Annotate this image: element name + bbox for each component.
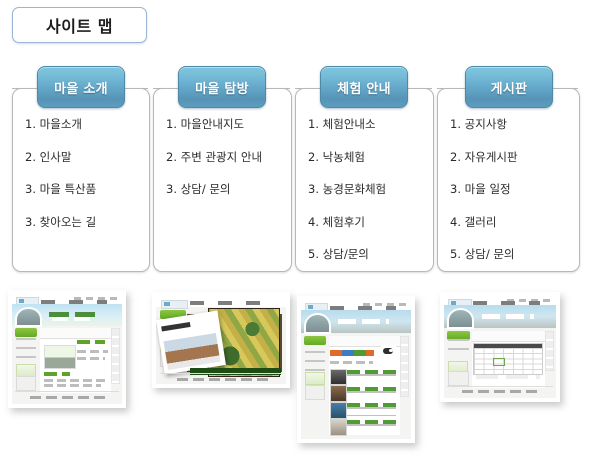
village-schedule-calendar-page-thumbnail[interactable] [440, 292, 560, 402]
sitemap-column-1: 1. 마을소개 2. 인사말 3. 마을 특산품 3. 찾아오는 길 [12, 88, 150, 272]
list-item[interactable]: 3. 농경문화체험 [308, 184, 433, 196]
list-item[interactable]: 3. 찾아오는 길 [25, 217, 149, 229]
list-item-number: 4. [450, 217, 461, 229]
connector-mask-right [578, 86, 600, 91]
sitemap-column-3-list: 1. 체험안내소 2. 낙농체험 3. 농경문화체험 4. 체험후기 5. 상담… [296, 89, 433, 261]
list-item-number: 3. [166, 184, 177, 196]
list-item-number: 2. [308, 152, 319, 164]
list-item[interactable]: 5. 상담/ 문의 [450, 249, 579, 261]
village-home-page-thumbnail[interactable] [8, 290, 126, 408]
sitemap-tab-label: 게시판 [491, 78, 528, 97]
list-item-number: 4. [308, 217, 319, 229]
list-item-label: 상담/ 문의 [465, 247, 515, 261]
thumbnail-screenshot [156, 296, 286, 384]
sitemap-tab-label: 체험 안내 [337, 78, 391, 97]
list-item-label: 주변 관광지 안내 [181, 150, 262, 164]
sitemap-tab-label: 마을 소개 [54, 78, 108, 97]
thumbnail-screenshot [301, 300, 411, 439]
thumbnail-screenshot [12, 294, 122, 404]
list-item-number: 2. [166, 152, 177, 164]
list-item-label: 마을소개 [40, 117, 82, 131]
list-item[interactable]: 3. 상담/ 문의 [166, 184, 291, 196]
sitemap-tab-experience-guide[interactable]: 체험 안내 [320, 66, 408, 108]
list-item-label: 찾아오는 길 [40, 215, 97, 229]
list-item[interactable]: 1. 마을안내지도 [166, 119, 291, 131]
list-item[interactable]: 2. 자유게시판 [450, 152, 579, 164]
list-item[interactable]: 1. 체험안내소 [308, 119, 433, 131]
list-item-number: 1. [450, 119, 461, 131]
list-item-label: 인사말 [40, 150, 72, 164]
village-map-page-thumbnail[interactable] [152, 292, 290, 388]
list-item[interactable]: 3. 마을 일정 [450, 184, 579, 196]
list-item-number: 5. [450, 249, 461, 261]
list-item-number: 3. [308, 184, 319, 196]
list-item-number: 5. [308, 249, 319, 261]
list-item-label: 농경문화체험 [323, 182, 386, 196]
page-title-box: 사이트 맵 [12, 7, 147, 43]
list-item[interactable]: 3. 마을 특산품 [25, 184, 149, 196]
list-item-number: 3. [450, 184, 461, 196]
list-item[interactable]: 4. 갤러리 [450, 217, 579, 229]
list-item[interactable]: 2. 주변 관광지 안내 [166, 152, 291, 164]
sitemap-column-2: 1. 마을안내지도 2. 주변 관광지 안내 3. 상담/ 문의 [153, 88, 292, 272]
list-item-number: 1. [25, 119, 36, 131]
page-title: 사이트 맵 [46, 13, 113, 37]
list-item-label: 상담/ 문의 [181, 182, 231, 196]
list-item-label: 자유게시판 [465, 150, 518, 164]
thumbnail-screenshot [444, 296, 556, 398]
sitemap-tab-bulletin-board[interactable]: 게시판 [465, 66, 553, 108]
sitemap-tab-label: 마을 탐방 [195, 78, 249, 97]
list-item[interactable]: 4. 체험후기 [308, 217, 433, 229]
list-item-label: 체험후기 [323, 215, 365, 229]
list-item[interactable]: 5. 상담/문의 [308, 249, 433, 261]
sitemap-tab-village-tour[interactable]: 마을 탐방 [178, 66, 266, 108]
connector-mask-left [0, 86, 12, 91]
list-item-label: 마을 특산품 [40, 182, 97, 196]
list-item-number: 3. [25, 217, 36, 229]
list-item[interactable]: 2. 낙농체험 [308, 152, 433, 164]
list-item[interactable]: 1. 마을소개 [25, 119, 149, 131]
sitemap-column-4-list: 1. 공지사항 2. 자유게시판 3. 마을 일정 4. 갤러리 5. 상담/ … [438, 89, 579, 261]
sitemap-tab-village-intro[interactable]: 마을 소개 [37, 66, 125, 108]
experience-guide-page-thumbnail[interactable] [297, 296, 415, 443]
sitemap-column-1-list: 1. 마을소개 2. 인사말 3. 마을 특산품 3. 찾아오는 길 [13, 89, 149, 228]
list-item-label: 마을안내지도 [181, 117, 244, 131]
list-item-number: 3. [25, 184, 36, 196]
list-item-label: 상담/문의 [323, 247, 369, 261]
list-item-label: 마을 일정 [465, 182, 511, 196]
list-item[interactable]: 2. 인사말 [25, 152, 149, 164]
list-item-number: 2. [25, 152, 36, 164]
list-item-label: 낙농체험 [323, 150, 365, 164]
sitemap-column-3: 1. 체험안내소 2. 낙농체험 3. 농경문화체험 4. 체험후기 5. 상담… [295, 88, 434, 272]
list-item-number: 1. [166, 119, 177, 131]
list-item-number: 2. [450, 152, 461, 164]
sitemap-column-4: 1. 공지사항 2. 자유게시판 3. 마을 일정 4. 갤러리 5. 상담/ … [437, 88, 580, 272]
list-item[interactable]: 1. 공지사항 [450, 119, 579, 131]
list-item-label: 체험안내소 [323, 117, 376, 131]
list-item-number: 1. [308, 119, 319, 131]
list-item-label: 갤러리 [465, 215, 497, 229]
list-item-label: 공지사항 [465, 117, 507, 131]
